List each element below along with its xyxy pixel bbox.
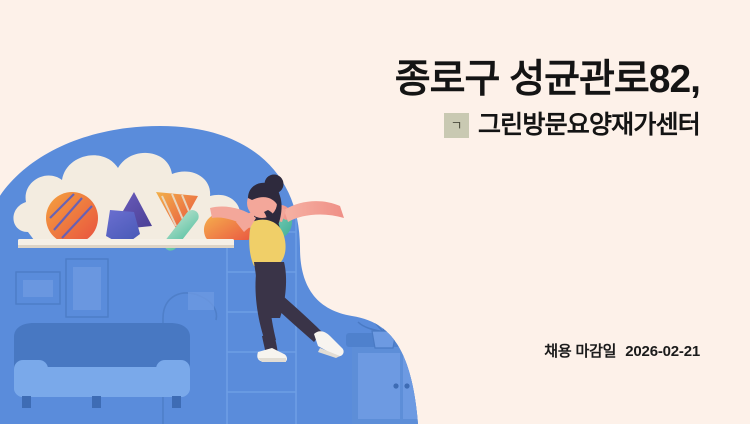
deadline-date: 2026-02-21 [625,343,700,360]
deadline-row: 채용 마감일2026-02-21 [544,340,700,361]
sofa [14,323,190,408]
sphere-striped [46,192,98,244]
company-row: ㄱ 그린방문요양재가센터 [280,113,700,138]
company-name: 그린방문요양재가센터 [478,113,700,138]
page-title: 종로구 성균관로82, [280,58,700,102]
deadline-label: 채용 마감일 [544,343,616,360]
company-logo-badge: ㄱ [444,113,469,138]
job-posting-banner: 종로구 성균관로82, ㄱ 그린방문요양재가센터 채용 마감일2026-02-2… [0,0,750,424]
headline-block: 종로구 성균관로82, ㄱ 그린방문요양재가센터 [280,58,700,138]
shelf [18,239,234,248]
lamp-shade [188,292,214,310]
